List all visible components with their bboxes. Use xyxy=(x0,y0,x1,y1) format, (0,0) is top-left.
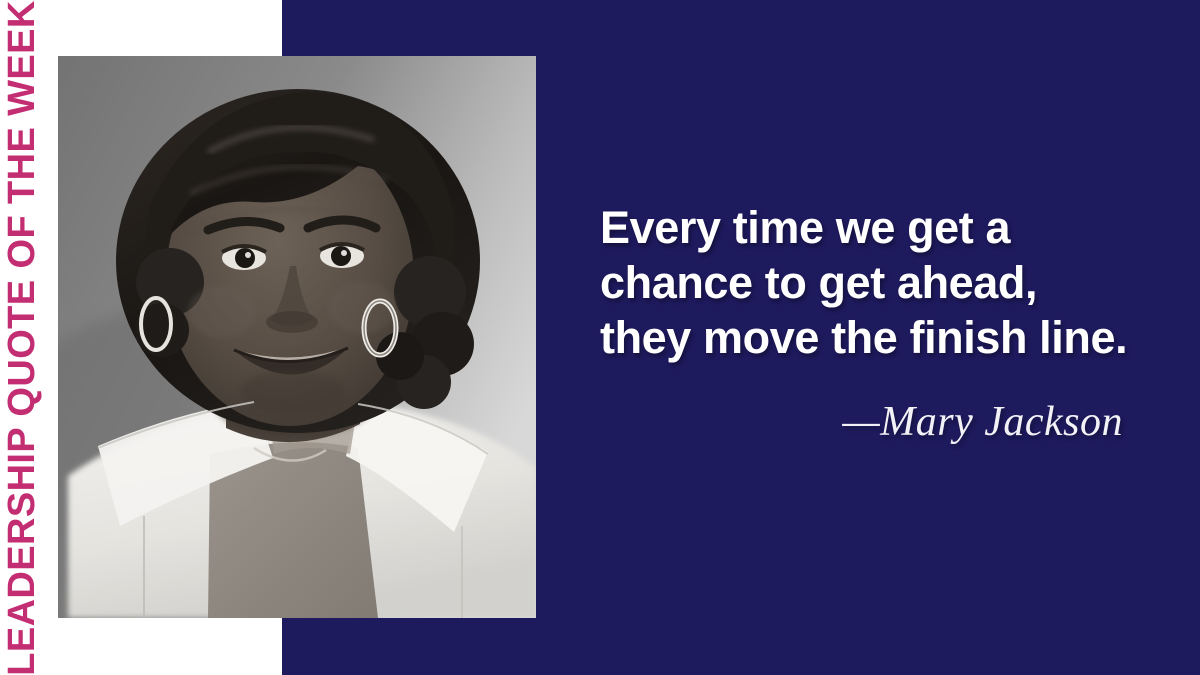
portrait-photo xyxy=(58,56,536,618)
quote-line-1: Every time we get a xyxy=(600,200,1140,255)
vertical-banner-label: LEADERSHIP QUOTE OF THE WEEK xyxy=(0,0,44,675)
quote-attribution: —Mary Jackson xyxy=(600,399,1140,445)
quote-line-3: they move the finish line. xyxy=(600,310,1140,365)
quote-card: LEADERSHIP QUOTE OF THE WEEK Every time … xyxy=(0,0,1200,675)
quote-block: Every time we get a chance to get ahead,… xyxy=(600,200,1140,445)
quote-line-2: chance to get ahead, xyxy=(600,255,1140,310)
vertical-banner-text: LEADERSHIP QUOTE OF THE WEEK xyxy=(3,0,41,675)
